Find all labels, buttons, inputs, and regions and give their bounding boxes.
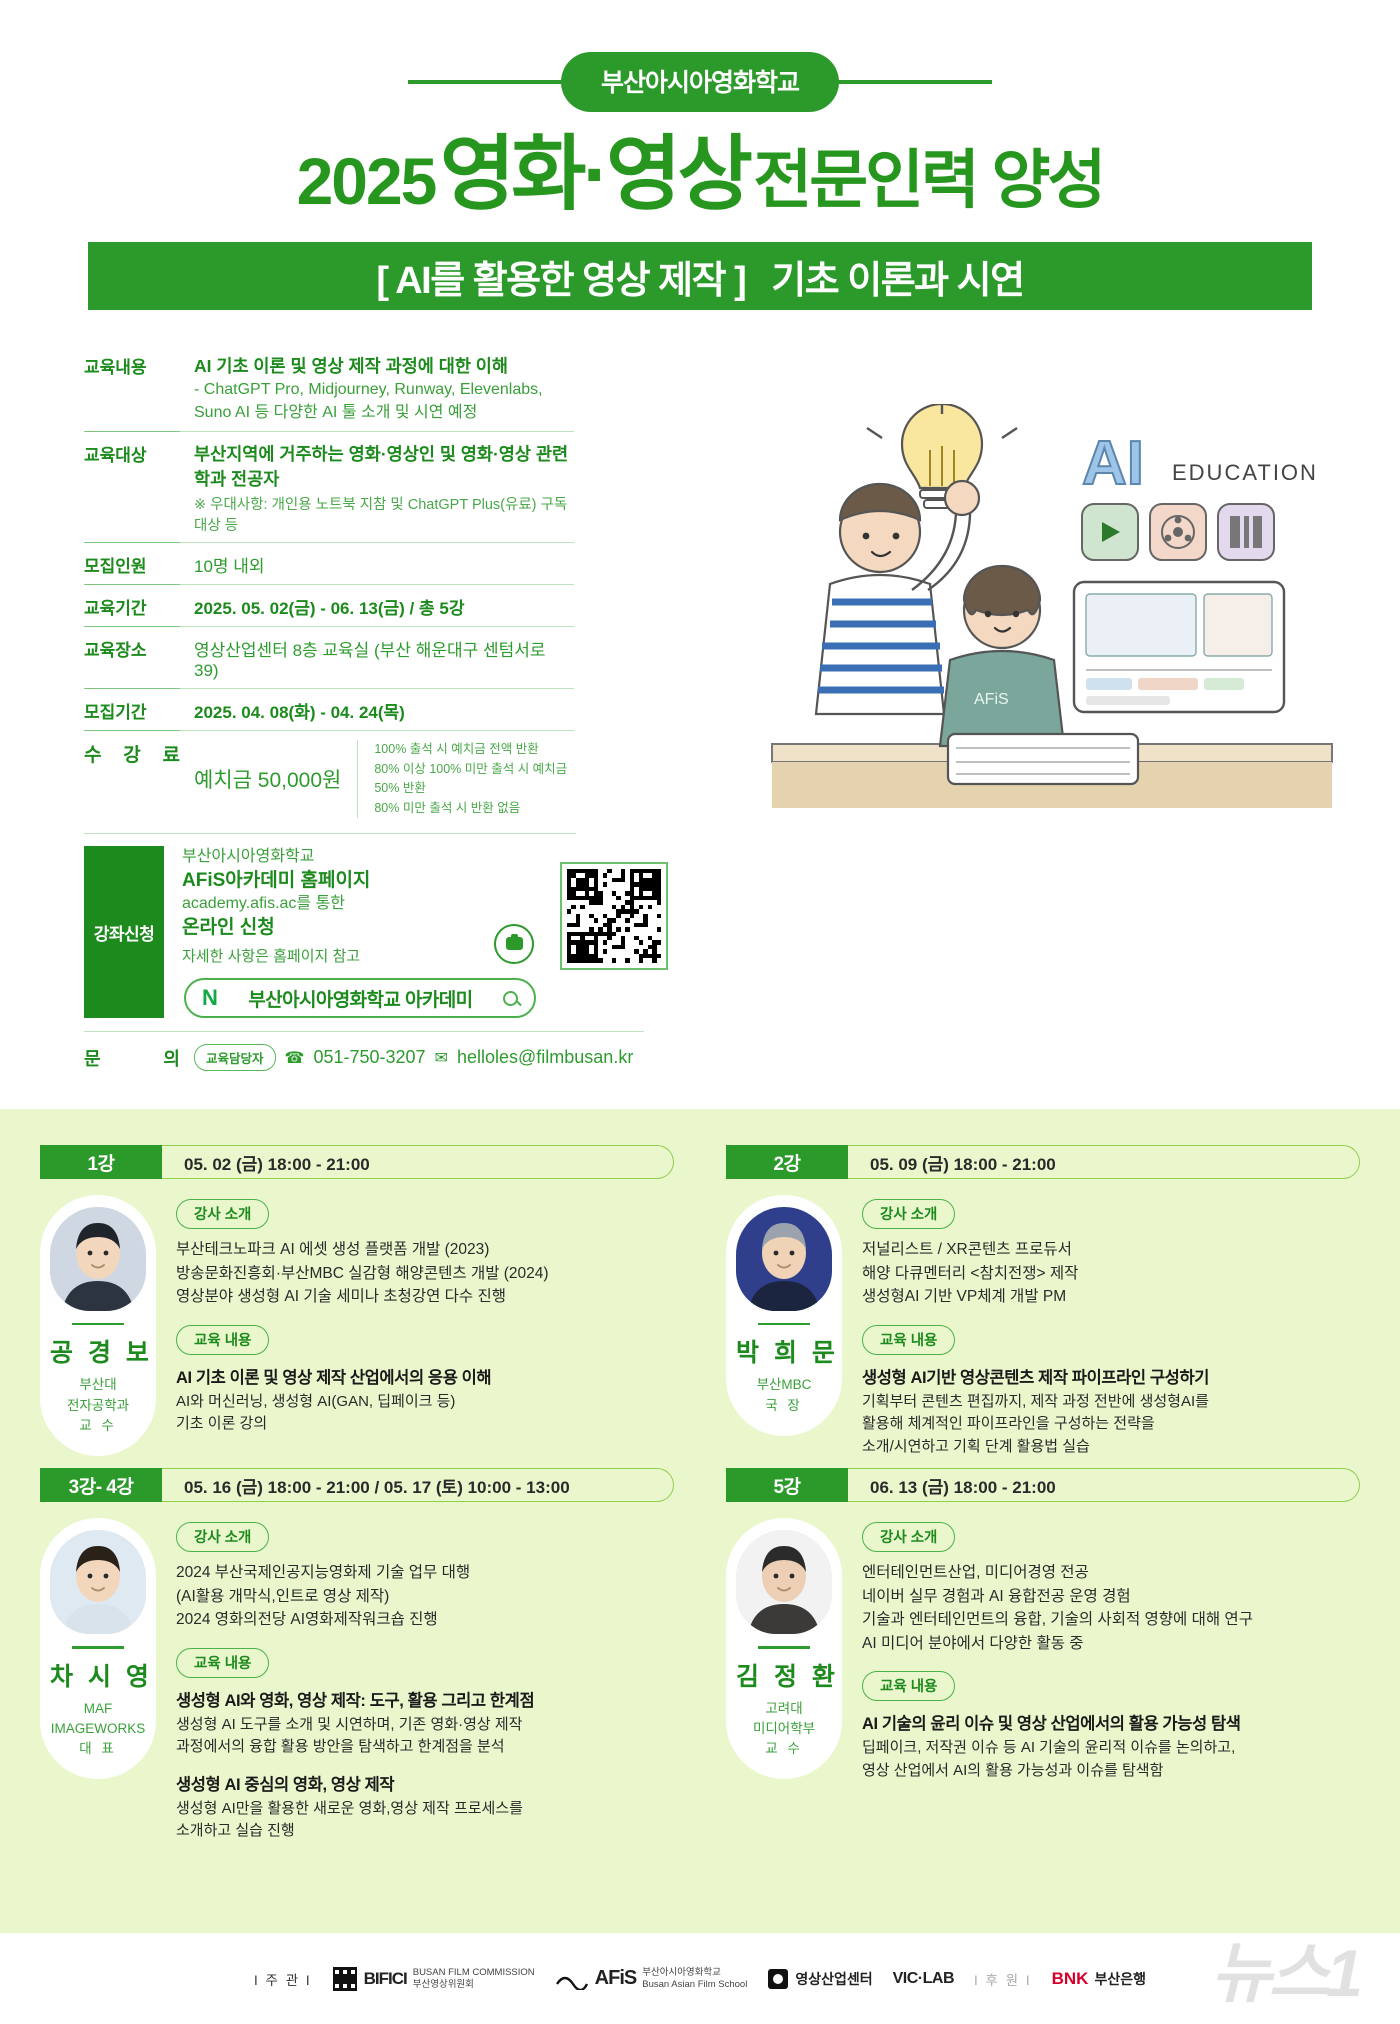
badge-row: 부산아시아영화학교: [0, 52, 1400, 112]
avatar: [50, 1207, 146, 1311]
avatar: [50, 1530, 146, 1634]
apply-line-homepage: AFiS아카데미 홈페이지: [182, 868, 576, 893]
instructor-name: 공 경 보: [50, 1333, 150, 1369]
apply-badge: 강좌신청: [84, 846, 164, 1018]
instructor-intro-line: 엔터테인먼트산업, 미디어경영 전공: [862, 1561, 1360, 1585]
table-row-target: 교육대상 부산지역에 거주하는 영화·영상인 및 영화·영상 관련 학과 전공자…: [84, 432, 574, 543]
instructor-intro-chip: 강사 소개: [176, 1522, 269, 1552]
table-row-content: 교육내용 AI 기초 이론 및 영상 제작 과정에 대한 이해 - ChatGP…: [84, 344, 574, 432]
contact-phone[interactable]: 051-750-3207: [313, 1047, 425, 1068]
instructor-affiliation-line: 부산대: [46, 1375, 150, 1395]
topic-title: AI 기초 이론 및 영상 제작 산업에서의 응용 이해: [176, 1364, 674, 1388]
course-content-chip: 교육 내용: [862, 1671, 955, 1701]
lecture-number-tag: 5강: [726, 1468, 848, 1502]
illustration-svg: AI EDUCATION: [752, 404, 1356, 836]
avatar: [736, 1207, 832, 1311]
lecture-details: 강사 소개부산테크노파크 AI 에셋 생성 플랫폼 개발 (2023)방송문화진…: [176, 1195, 674, 1456]
course-content-chip: 교육 내용: [176, 1648, 269, 1678]
divider: [758, 1646, 810, 1648]
lecture-card: 3강- 4강05. 16 (금) 18:00 - 21:00 / 05. 17 …: [40, 1468, 674, 1853]
topic-desc-line: AI와 머신러닝, 생성형 AI(GAN, 딥페이크 등): [176, 1391, 674, 1414]
topic-description: 생성형 AI 도구를 소개 및 시연하며, 기존 영화·영상 제작과정에서의 융…: [176, 1714, 674, 1759]
apply-line-url[interactable]: academy.afis.ac를 통한: [182, 893, 576, 915]
lecture-details: 강사 소개엔터테인먼트산업, 미디어경영 전공네이버 실무 경험과 AI 융합전…: [862, 1518, 1360, 1782]
lecture-number-tag: 1강: [40, 1145, 162, 1179]
info-label-capacity: 모집인원: [84, 543, 180, 585]
lecture-header: 1강05. 02 (금) 18:00 - 21:00: [40, 1145, 674, 1179]
contact-section: 문 의 교육담당자 ☎ 051-750-3207 ✉ helloles@film…: [84, 1031, 644, 1071]
target-headline: 부산지역에 거주하는 영화·영상인 및 영화·영상 관련 학과 전공자: [194, 441, 574, 491]
lecture-datetime: 05. 02 (금) 18:00 - 21:00: [162, 1145, 674, 1179]
fee-amount: 예치금 50,000원: [194, 764, 357, 794]
fee-rule-item: 80% 이상 100% 미만 출석 시 예치금 50% 반환: [374, 760, 574, 799]
instructor-photo: [736, 1530, 832, 1634]
instructor-photo: [50, 1530, 146, 1634]
instructor-card: 차 시 영MAFIMAGEWORKS대 표: [40, 1518, 156, 1779]
lecture-body: 차 시 영MAFIMAGEWORKS대 표강사 소개2024 부산국제인공지능영…: [40, 1518, 674, 1843]
instructor-intro-line: 부산테크노파크 AI 에셋 생성 플랫폼 개발 (2023): [176, 1238, 674, 1262]
instructor-card: 공 경 보부산대전자공학과교 수: [40, 1195, 156, 1456]
divider: [72, 1323, 124, 1325]
instructor-affiliation-line: 전자공학과: [46, 1396, 150, 1416]
divider: [72, 1646, 124, 1648]
person-seated: AFiS: [940, 566, 1064, 746]
fee-rule-item: 100% 출석 시 예치금 전액 반환: [374, 740, 574, 759]
instructor-affiliation-line: 부산MBC: [732, 1375, 836, 1395]
instructor-intro: 부산테크노파크 AI 에셋 생성 플랫폼 개발 (2023)방송문화진흥회·부산…: [176, 1238, 674, 1309]
contact-label: 문 의: [84, 1045, 180, 1071]
topic-desc-line: 소개/시연하고 기획 단계 활용법 실습: [862, 1436, 1360, 1459]
topic-desc-line: 기초 이론 강의: [176, 1413, 674, 1436]
fee-rules: 100% 출석 시 예치금 전액 반환 80% 이상 100% 미만 출석 시 …: [357, 740, 574, 818]
lecture-body: 공 경 보부산대전자공학과교 수강사 소개부산테크노파크 AI 에셋 생성 플랫…: [40, 1195, 674, 1456]
course-info-table: 교육내용 AI 기초 이론 및 영상 제작 과정에 대한 이해 - ChatGP…: [84, 344, 574, 825]
fee-rule-item: 80% 미만 출석 시 반환 없음: [374, 799, 574, 818]
lecture-header: 5강06. 13 (금) 18:00 - 21:00: [726, 1468, 1360, 1502]
instructor-affiliation: MAFIMAGEWORKS대 표: [46, 1699, 150, 1760]
instructor-affiliation: 부산MBC국 장: [732, 1375, 836, 1416]
instructor-affiliation-line: IMAGEWORKS: [46, 1719, 150, 1739]
instructor-intro-line: 방송문화진흥회·부산MBC 실감형 해양콘텐츠 개발 (2024): [176, 1262, 674, 1286]
lecture-body: 김 정 환고려대미디어학부교 수강사 소개엔터테인먼트산업, 미디어경영 전공네…: [726, 1518, 1360, 1782]
contact-tag: 교육담당자: [194, 1044, 276, 1071]
info-label-content: 교육내용: [84, 344, 180, 432]
monitor-screen: [1074, 582, 1284, 712]
info-value-capacity: 10명 내외: [180, 543, 574, 585]
info-value-content: AI 기초 이론 및 영상 제작 과정에 대한 이해 - ChatGPT Pro…: [180, 344, 574, 432]
topic-desc-line: 기획부터 콘텐츠 편집까지, 제작 과정 전반에 생성형AI를: [862, 1391, 1360, 1414]
divider: [758, 1323, 810, 1325]
instructor-photo: [736, 1207, 832, 1311]
lecture-details: 강사 소개2024 부산국제인공지능영화제 기술 업무 대행(AI활용 개막식,…: [176, 1518, 674, 1843]
watermark: 뉴스1: [1211, 1920, 1360, 2016]
instructor-intro-line: 2024 영화의전당 AI영화제작워크숍 진행: [176, 1608, 674, 1632]
topic-title: 생성형 AI기반 영상콘텐츠 제작 파이프라인 구성하기: [862, 1364, 1360, 1388]
lecture-details: 강사 소개저널리스트 / XR콘텐츠 프로듀서해양 다큐멘터리 <참치전쟁> 제…: [862, 1195, 1360, 1458]
instructor-affiliation-line: 미디어학부: [732, 1719, 836, 1739]
info-label-apply-period: 모집기간: [84, 689, 180, 731]
topic-desc-line: 생성형 AI 도구를 소개 및 시연하며, 기존 영화·영상 제작: [176, 1714, 674, 1737]
instructor-intro: 엔터테인먼트산업, 미디어경영 전공네이버 실무 경험과 AI 융합전공 운영 …: [862, 1561, 1360, 1655]
topic-title: 생성형 AI 중심의 영화, 영상 제작: [176, 1771, 674, 1795]
topic-desc-line: 영상 산업에서 AI의 활용 가능성과 이슈를 탐색함: [862, 1760, 1360, 1783]
subtitle-right: 기초 이론과 시연: [771, 249, 1023, 304]
info-value-venue: 영상산업센터 8층 교육실 (부산 해운대구 센텀서로 39): [180, 627, 574, 689]
lecture-card: 1강05. 02 (금) 18:00 - 21:00공 경 보부산대전자공학과교…: [40, 1145, 674, 1468]
instructor-intro-chip: 강사 소개: [176, 1199, 269, 1229]
instructor-affiliation-line: 국 장: [732, 1396, 836, 1416]
topic-desc-line: 소개하고 실습 진행: [176, 1820, 674, 1843]
instructor-affiliation-line: MAF: [46, 1699, 150, 1719]
topic-description: 생성형 AI만을 활용한 새로운 영화,영상 제작 프로세스를소개하고 실습 진…: [176, 1798, 674, 1843]
instructor-intro-line: 네이버 실무 경험과 AI 융합전공 운영 경험: [862, 1585, 1360, 1609]
instructor-intro: 2024 부산국제인공지능영화제 기술 업무 대행(AI활용 개막식,인트로 영…: [176, 1561, 674, 1632]
course-topics: 생성형 AI와 영화, 영상 제작: 도구, 활용 그리고 한계점생성형 AI …: [176, 1687, 674, 1843]
logo-viclab: VIC·LAB: [893, 1970, 954, 1988]
lecture-card: 2강05. 09 (금) 18:00 - 21:00박 희 문부산MBC국 장강…: [726, 1145, 1360, 1468]
info-label-fee: 수 강 료: [84, 731, 180, 825]
app-icons: [1082, 504, 1274, 560]
instructor-photo: [50, 1207, 146, 1311]
instructor-intro-line: 영상분야 생성형 AI 기술 세미나 초청강연 다수 진행: [176, 1285, 674, 1309]
lecture-datetime: 06. 13 (금) 18:00 - 21:00: [848, 1468, 1360, 1502]
table-row-period: 교육기간 2025. 05. 02(금) - 06. 13(금) / 총 5강: [84, 585, 574, 627]
instructor-name: 박 희 문: [736, 1333, 836, 1369]
poster-header-section: 부산아시아영화학교 2025 영화·영상 전문인력 양성 [ AI를 활용한 영…: [0, 52, 1400, 1109]
target-note: ※ 우대사항: 개인용 노트북 지참 및 ChatGPT Plus(유료) 구독…: [194, 493, 574, 535]
bific-mark-icon: [332, 1966, 358, 1992]
table-row-apply-period: 모집기간 2025. 04. 08(화) - 04. 24(목): [84, 689, 574, 731]
table-row-capacity: 모집인원 10명 내외: [84, 543, 574, 585]
search-icon[interactable]: [503, 991, 518, 1006]
table-row-venue: 교육장소 영상산업센터 8층 교육실 (부산 해운대구 센텀서로 39): [84, 627, 574, 689]
camera-icon: [494, 924, 534, 964]
topic-desc-line: 활용해 체계적인 파이프라인을 구성하는 전략을: [862, 1413, 1360, 1436]
phone-icon: ☎: [285, 1048, 305, 1068]
info-label-venue: 교육장소: [84, 627, 180, 689]
ai-label: AI EDUCATION: [1082, 429, 1318, 498]
instructor-intro-line: 생성형AI 기반 VP체계 개발 PM: [862, 1285, 1360, 1309]
lecture-grid: 1강05. 02 (금) 18:00 - 21:00공 경 보부산대전자공학과교…: [40, 1145, 1360, 1853]
logo-afis: AFiS 부산아시아영화학교 Busan Asian Film School: [555, 1967, 748, 1990]
topic-description: 기획부터 콘텐츠 편집까지, 제작 과정 전반에 생성형AI를활용해 체계적인 …: [862, 1391, 1360, 1459]
naver-search-query: 부산아시아영화학교 아카데미: [218, 985, 503, 1012]
content-tools: - ChatGPT Pro, Midjourney, Runway, Eleve…: [194, 378, 574, 424]
course-content-chip: 교육 내용: [176, 1325, 269, 1355]
page-title: 2025 영화·영상 전문인력 양성: [0, 134, 1400, 216]
subtitle-bar: [ AI를 활용한 영상 제작 ] 기초 이론과 시연: [88, 242, 1312, 310]
info-label-target: 교육대상: [84, 432, 180, 543]
instructor-intro-line: 저널리스트 / XR콘텐츠 프로듀서: [862, 1238, 1360, 1262]
naver-search-bar[interactable]: N 부산아시아영화학교 아카데미: [184, 978, 536, 1018]
afis-mark-icon: [555, 1968, 589, 1990]
poster-footer: I 주 관 I BIFICI BUSAN FILM COMMISSION 부산영…: [0, 1933, 1400, 2024]
logo-video-center: 영상산업센터: [767, 1968, 872, 1990]
lecture-number-tag: 3강- 4강: [40, 1468, 162, 1502]
avatar: [736, 1530, 832, 1634]
afis-name: AFiS: [595, 1967, 637, 1990]
info-value-fee: 예치금 50,000원 100% 출석 시 예치금 전액 반환 80% 이상 1…: [180, 731, 574, 825]
mail-icon: ✉: [435, 1048, 448, 1068]
instructor-intro-line: 기술과 엔터테인먼트의 융합, 기술의 사회적 영향에 대해 연구: [862, 1608, 1360, 1632]
lecture-header: 2강05. 09 (금) 18:00 - 21:00: [726, 1145, 1360, 1179]
bific-sub: BUSAN FILM COMMISSION 부산영상위원회: [413, 1967, 535, 1990]
instructor-affiliation-line: 교 수: [732, 1739, 836, 1759]
contact-email[interactable]: helloles@filmbusan.kr: [457, 1047, 633, 1068]
keyboard: [948, 734, 1138, 784]
instructor-affiliation-line: 교 수: [46, 1416, 150, 1436]
qr-code[interactable]: [560, 862, 668, 970]
apply-section: 강좌신청 부산아시아영화학교 AFiS아카데미 홈페이지 academy.afi…: [84, 846, 576, 1018]
lecture-number-tag: 2강: [726, 1145, 848, 1179]
badge-rule-right: [837, 80, 992, 84]
instructor-name: 차 시 영: [50, 1657, 150, 1693]
lecture-card: 5강06. 13 (금) 18:00 - 21:00김 정 환고려대미디어학부교…: [726, 1468, 1360, 1853]
instructor-name: 김 정 환: [736, 1657, 836, 1693]
apply-line-school: 부산아시아영화학교: [182, 846, 576, 868]
subtitle-left: [ AI를 활용한 영상 제작 ]: [376, 249, 745, 304]
svg-text:EDUCATION: EDUCATION: [1172, 460, 1318, 485]
info-value-target: 부산지역에 거주하는 영화·영상인 및 영화·영상 관련 학과 전공자 ※ 우대…: [180, 432, 574, 543]
svg-text:AI: AI: [1082, 429, 1144, 498]
badge-rule-left: [408, 80, 563, 84]
topic-description: AI와 머신러닝, 생성형 AI(GAN, 딥페이크 등)기초 이론 강의: [176, 1391, 674, 1436]
topic-description: 딥페이크, 저작권 이슈 등 AI 기술의 윤리적 이슈를 논의하고,영상 산업…: [862, 1737, 1360, 1782]
content-headline: AI 기초 이론 및 영상 제작 과정에 대한 이해: [194, 353, 574, 378]
divider: [84, 833, 576, 834]
instructor-intro-line: AI 미디어 분야에서 다양한 활동 중: [862, 1632, 1360, 1656]
course-topics: AI 기술의 윤리 이슈 및 영상 산업에서의 활용 가능성 탐색딥페이크, 저…: [862, 1710, 1360, 1782]
lecture-datetime: 05. 16 (금) 18:00 - 21:00 / 05. 17 (토) 10…: [162, 1468, 674, 1502]
instructor-intro-line: 2024 부산국제인공지능영화제 기술 업무 대행: [176, 1561, 674, 1585]
info-value-apply-period: 2025. 04. 08(화) - 04. 24(목): [180, 689, 574, 731]
instructor-card: 박 희 문부산MBC국 장: [726, 1195, 842, 1436]
lecture-body: 박 희 문부산MBC국 장강사 소개저널리스트 / XR콘텐츠 프로듀서해양 다…: [726, 1195, 1360, 1458]
instructor-card: 김 정 환고려대미디어학부교 수: [726, 1518, 842, 1779]
afis-sub: 부산아시아영화학교 Busan Asian Film School: [642, 1967, 747, 1990]
topic-desc-line: 딥페이크, 저작권 이슈 등 AI 기술의 윤리적 이슈를 논의하고,: [862, 1737, 1360, 1760]
topic-desc-line: 생성형 AI만을 활용한 새로운 영화,영상 제작 프로세스를: [176, 1798, 674, 1821]
instructor-affiliation-line: 대 표: [46, 1739, 150, 1759]
info-label-period: 교육기간: [84, 585, 180, 627]
instructor-intro-chip: 강사 소개: [862, 1199, 955, 1229]
ai-education-illustration: AI EDUCATION: [752, 404, 1356, 836]
topic-title: AI 기술의 윤리 이슈 및 영상 산업에서의 활용 가능성 탐색: [862, 1710, 1360, 1734]
lecture-schedule-section: 1강05. 02 (금) 18:00 - 21:00공 경 보부산대전자공학과교…: [0, 1109, 1400, 1933]
lecture-datetime: 05. 09 (금) 18:00 - 21:00: [848, 1145, 1360, 1179]
logo-bific: BIFICI BUSAN FILM COMMISSION 부산영상위원회: [332, 1966, 535, 1992]
video-center-mark-icon: [767, 1968, 789, 1990]
lecture-header: 3강- 4강05. 16 (금) 18:00 - 21:00 / 05. 17 …: [40, 1468, 674, 1502]
school-badge: 부산아시아영화학교: [561, 52, 839, 112]
course-topics: AI 기초 이론 및 영상 제작 산업에서의 응용 이해AI와 머신러닝, 생성…: [176, 1364, 674, 1436]
instructor-affiliation: 고려대미디어학부교 수: [732, 1699, 836, 1760]
table-row-fee: 수 강 료 예치금 50,000원 100% 출석 시 예치금 전액 반환 80…: [84, 731, 574, 825]
title-big: 영화·영상: [440, 129, 749, 220]
title-mid: 전문인력 양성: [753, 144, 1103, 216]
instructor-intro-line: 해양 다큐멘터리 <참치전쟁> 제작: [862, 1262, 1360, 1286]
course-topics: 생성형 AI기반 영상콘텐츠 제작 파이프라인 구성하기기획부터 콘텐츠 편집까…: [862, 1364, 1360, 1459]
topic-desc-line: 과정에서의 융합 활용 방안을 탐색하고 한계점을 분석: [176, 1736, 674, 1759]
instructor-intro-line: (AI활용 개막식,인트로 영상 제작): [176, 1585, 674, 1609]
naver-logo-icon: N: [202, 985, 218, 1011]
instructor-affiliation: 부산대전자공학과교 수: [46, 1375, 150, 1436]
topic-title: 생성형 AI와 영화, 영상 제작: 도구, 활용 그리고 한계점: [176, 1687, 674, 1711]
instructor-affiliation-line: 고려대: [732, 1699, 836, 1719]
svg-text:AFiS: AFiS: [974, 691, 1009, 708]
instructor-intro: 저널리스트 / XR콘텐츠 프로듀서해양 다큐멘터리 <참치전쟁> 제작생성형A…: [862, 1238, 1360, 1309]
instructor-intro-chip: 강사 소개: [862, 1522, 955, 1552]
info-value-period: 2025. 05. 02(금) - 06. 13(금) / 총 5강: [180, 585, 574, 627]
course-content-chip: 교육 내용: [862, 1325, 955, 1355]
title-year: 2025: [297, 144, 436, 218]
